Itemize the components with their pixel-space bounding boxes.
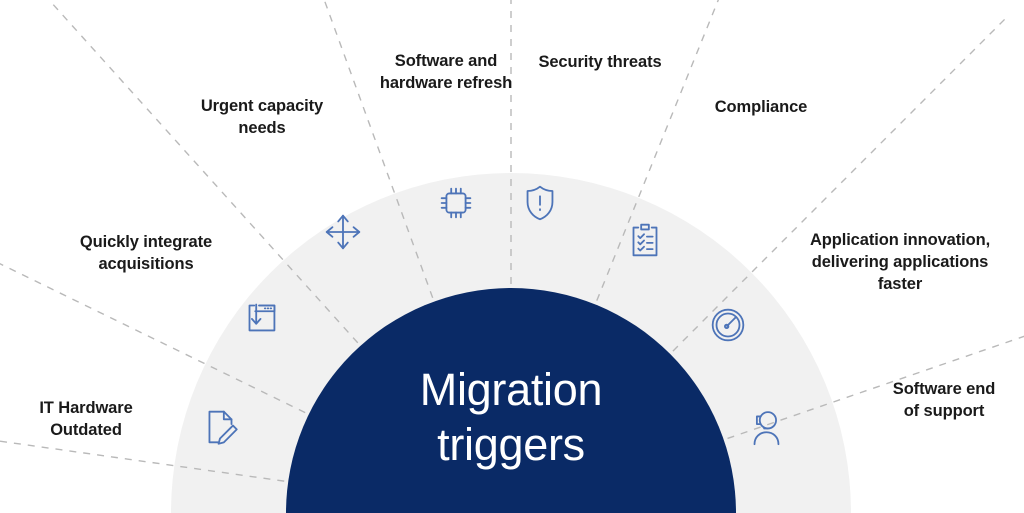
arrows-expand-icon (320, 209, 366, 255)
window-download-icon (238, 294, 284, 340)
segment-label: Software end of support (829, 379, 1024, 423)
segment-label: Quickly integrate acquisitions (31, 232, 261, 276)
segment-label: IT Hardware Outdated (0, 398, 201, 442)
cpu-chip-icon (433, 180, 479, 226)
shield-alert-icon (517, 179, 563, 225)
clipboard-check-icon (622, 217, 668, 263)
segment-label: Application innovation, delivering appli… (785, 230, 1015, 295)
segment-label: Urgent capacity needs (147, 96, 377, 140)
document-edit-icon (197, 404, 243, 450)
segment-label: Security threats (485, 52, 715, 74)
migration-triggers-diagram: Migration triggers IT Hardware OutdatedQ… (0, 0, 1024, 513)
page-title: Migration triggers (331, 363, 691, 473)
gauge-icon (705, 302, 751, 348)
segment-label: Compliance (646, 97, 876, 119)
support-agent-icon (743, 404, 789, 450)
